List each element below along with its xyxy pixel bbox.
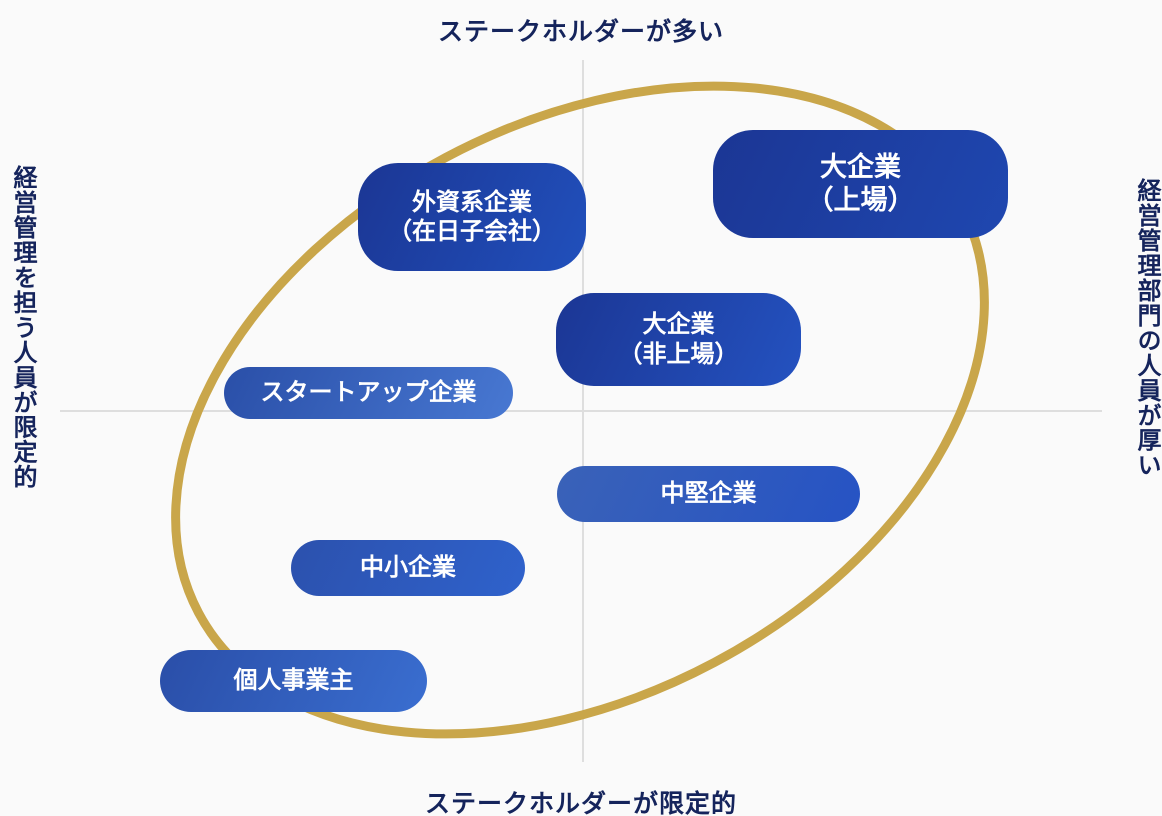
pill-startup[interactable]: スタートアップ企業	[224, 367, 513, 419]
pill-mid-size[interactable]: 中堅企業	[557, 466, 860, 522]
pill-label-primary: 大企業	[643, 310, 715, 339]
pill-large-unlisted[interactable]: 大企業（非上場）	[556, 293, 801, 386]
pill-label-secondary: （上場）	[807, 184, 915, 217]
pill-label-primary: 中小企業	[360, 553, 456, 582]
horizontal-axis	[60, 410, 1102, 412]
pill-label-secondary: （非上場）	[619, 340, 739, 369]
pill-foreign-affiliate[interactable]: 外資系企業（在日子会社）	[358, 163, 586, 271]
axis-label-bottom: ステークホルダーが限定的	[0, 784, 1162, 816]
pill-label-primary: 外資系企業	[412, 188, 532, 217]
pill-label-primary: 大企業	[820, 151, 901, 184]
pill-label-primary: 個人事業主	[234, 666, 354, 695]
pill-small-medium[interactable]: 中小企業	[291, 540, 525, 596]
pill-large-listed[interactable]: 大企業（上場）	[713, 130, 1008, 238]
pill-label-primary: スタートアップ企業	[261, 378, 477, 407]
axis-label-right: 経営管理部門の人員が厚い	[1126, 178, 1160, 478]
axis-label-left: 経営管理を担う人員が限定的	[2, 165, 36, 489]
axis-label-top: ステークホルダーが多い	[0, 12, 1162, 48]
pill-label-primary: 中堅企業	[661, 479, 757, 508]
pill-sole-proprietor[interactable]: 個人事業主	[160, 650, 427, 712]
quadrant-chart: ステークホルダーが多い ステークホルダーが限定的 経営管理を担う人員が限定的 経…	[0, 0, 1162, 816]
pill-label-secondary: （在日子会社）	[388, 217, 556, 246]
